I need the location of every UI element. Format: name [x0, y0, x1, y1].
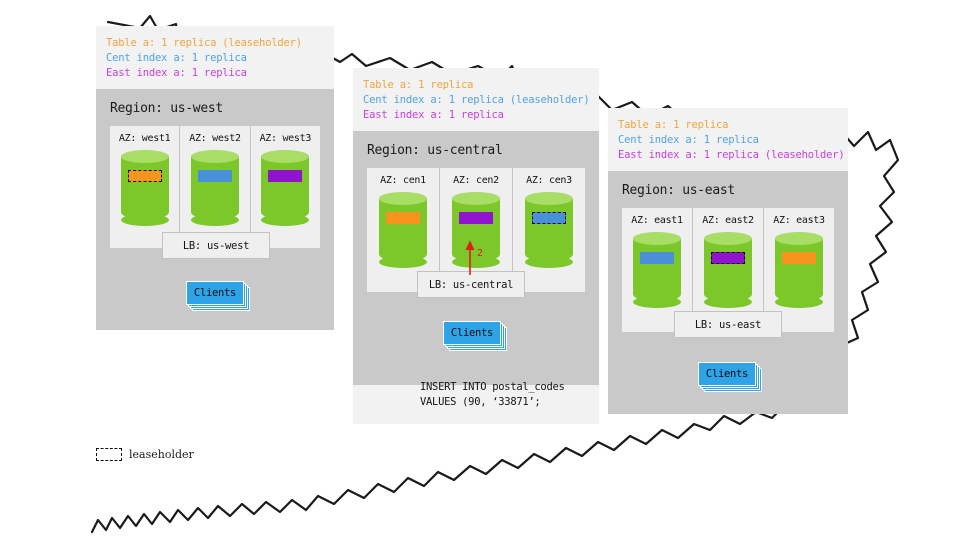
- arrow-step-number: 2: [477, 248, 483, 259]
- diagram-canvas: Table a: 1 replica (leaseholder) Cent in…: [0, 0, 960, 540]
- request-arrow-us-central: [0, 0, 960, 540]
